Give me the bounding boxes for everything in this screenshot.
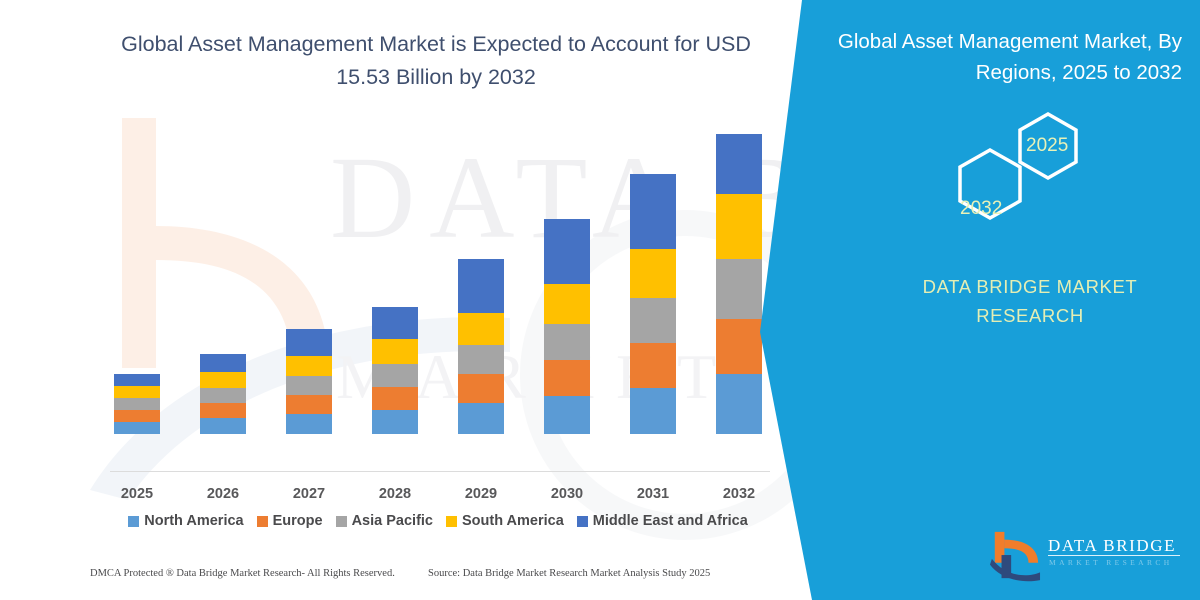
bar-segment[interactable] [458,374,504,403]
legend-swatch-icon [446,516,457,527]
data-bridge-mark-icon [988,530,1042,582]
legend-item[interactable]: South America [446,513,564,529]
x-axis-label-2026: 2026 [180,486,266,502]
bar-2027[interactable] [286,329,332,434]
bar-segment[interactable] [716,374,762,434]
legend-label: Middle East and Africa [593,513,748,529]
x-axis-label-2030: 2030 [524,486,610,502]
legend-swatch-icon [336,516,347,527]
bar-segment[interactable] [716,194,762,259]
bar-2030[interactable] [544,219,590,434]
logo-subtitle: MARKET RESEARCH [1049,558,1173,567]
bar-segment[interactable] [630,343,676,388]
x-axis-label-2029: 2029 [438,486,524,502]
bar-segment[interactable] [286,329,332,356]
bar-segment[interactable] [200,388,246,403]
hexagon-label-2025: 2025 [1026,135,1068,157]
x-axis-label-2025: 2025 [94,486,180,502]
legend-item[interactable]: Asia Pacific [336,513,433,529]
bar-2026[interactable] [200,354,246,434]
panel-brand-line1: DATA BRIDGE MARKET [923,276,1138,297]
bar-segment[interactable] [286,356,332,376]
legend-label: Asia Pacific [352,513,433,529]
bar-segment[interactable] [458,403,504,434]
bar-segment[interactable] [458,345,504,374]
legend-swatch-icon [257,516,268,527]
bar-segment[interactable] [458,313,504,345]
bar-segment[interactable] [114,386,160,398]
x-axis-label-2032: 2032 [696,486,782,502]
bar-segment[interactable] [630,388,676,434]
hexagon-label-2032: 2032 [960,198,1002,220]
bar-segment[interactable] [372,339,418,364]
bar-segment[interactable] [544,219,590,284]
bar-2032[interactable] [716,134,762,434]
legend-item[interactable]: North America [128,513,243,529]
bar-2025[interactable] [114,374,160,434]
bar-segment[interactable] [544,396,590,434]
logo-name: DATA BRIDGE [1048,536,1176,556]
bar-segment[interactable] [200,354,246,372]
bar-segment[interactable] [716,319,762,374]
legend-swatch-icon [577,516,588,527]
bar-segment[interactable] [544,360,590,396]
bar-segment[interactable] [200,372,246,388]
bar-segment[interactable] [630,249,676,298]
bar-segment[interactable] [372,364,418,387]
bar-2031[interactable] [630,174,676,434]
bar-segment[interactable] [114,410,160,422]
chart-area: 20252026202720282029203020312032 [96,110,776,510]
bar-segment[interactable] [200,403,246,418]
bar-segment[interactable] [114,374,160,386]
bar-segment[interactable] [372,307,418,339]
legend-item[interactable]: Europe [257,513,323,529]
panel-brand: DATA BRIDGE MARKET RESEARCH [880,272,1180,330]
bar-2028[interactable] [372,307,418,434]
x-axis-label-2027: 2027 [266,486,352,502]
bar-segment[interactable] [458,259,504,313]
bar-segment[interactable] [372,410,418,434]
bar-2029[interactable] [458,259,504,434]
bar-segment[interactable] [372,387,418,410]
bar-segment[interactable] [114,398,160,410]
chart-legend: North AmericaEuropeAsia PacificSouth Ame… [96,513,780,529]
legend-swatch-icon [128,516,139,527]
source-note: Source: Data Bridge Market Research Mark… [428,568,710,579]
hexagon-badges: 2032 2025 [920,108,1120,233]
dmca-notice: DMCA Protected ® Data Bridge Market Rese… [90,568,395,579]
infographic-root: DATA BRIDGE MARKET RESEARCH Global Asset… [0,0,1200,600]
bar-segment[interactable] [630,174,676,249]
hexagon-outlines [920,108,1120,233]
bar-segment[interactable] [544,324,590,360]
legend-label: Europe [273,513,323,529]
logo-divider [1048,555,1180,556]
bar-segment[interactable] [630,298,676,343]
bar-segment[interactable] [286,376,332,395]
x-axis-label-2028: 2028 [352,486,438,502]
chart-title: Global Asset Management Market is Expect… [96,28,776,94]
bar-segment[interactable] [716,134,762,194]
bar-segment[interactable] [200,418,246,434]
data-bridge-logo: DATA BRIDGE MARKET RESEARCH [988,528,1188,586]
bars-container [96,110,776,472]
x-axis-label-2031: 2031 [610,486,696,502]
legend-label: South America [462,513,564,529]
panel-title: Global Asset Management Market, By Regio… [806,26,1182,88]
bar-segment[interactable] [114,422,160,434]
bar-segment[interactable] [286,395,332,414]
bar-segment[interactable] [544,284,590,324]
panel-brand-line2: RESEARCH [976,305,1084,326]
legend-label: North America [144,513,243,529]
bar-segment[interactable] [286,414,332,434]
legend-item[interactable]: Middle East and Africa [577,513,748,529]
bar-segment[interactable] [716,259,762,319]
